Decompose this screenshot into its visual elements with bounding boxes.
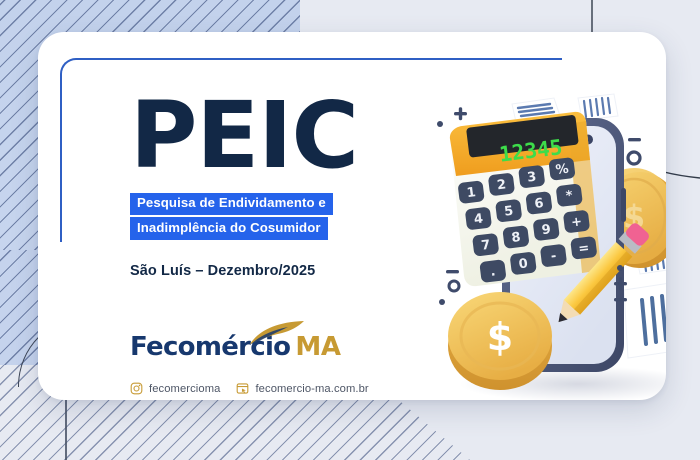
date-location-label: São Luís – Dezembro/2025 <box>130 263 430 279</box>
svg-text:%: % <box>555 162 570 178</box>
svg-text:8: 8 <box>511 230 522 246</box>
svg-text:4: 4 <box>473 211 484 227</box>
svg-text:0: 0 <box>518 256 529 272</box>
social-link-instagram[interactable]: fecomercioma <box>130 382 220 395</box>
svg-text:9: 9 <box>541 222 552 238</box>
feather-icon <box>248 320 314 346</box>
coin-dollar-symbol: $ <box>487 315 513 359</box>
social-label-instagram: fecomercioma <box>149 383 220 395</box>
svg-text:6: 6 <box>534 196 545 212</box>
svg-text:2: 2 <box>496 177 507 193</box>
logo-wordmark: FecomércioMA <box>130 332 460 370</box>
instagram-icon <box>130 382 143 395</box>
social-label-website: fecomercio-ma.com.br <box>255 383 368 395</box>
headline-block: PEIC Pesquisa de Endividamento e Inadimp… <box>130 94 430 279</box>
subtitle-line-2: Inadimplência do Cosumidor <box>130 217 328 239</box>
svg-text:3: 3 <box>526 170 537 186</box>
svg-text:1: 1 <box>466 185 477 201</box>
main-card: PEIC Pesquisa de Endividamento e Inadimp… <box>38 32 666 400</box>
svg-text:+: + <box>570 214 583 230</box>
phone-side-button <box>621 188 626 222</box>
website-icon <box>236 382 249 395</box>
calculator: 12345 <box>450 112 600 286</box>
social-link-website[interactable]: fecomercio-ma.com.br <box>236 382 368 395</box>
coin-front: $ <box>448 292 552 390</box>
page-title: PEIC <box>130 94 430 179</box>
paper-bottom-right <box>624 280 666 358</box>
brand-logo-block: FecomércioMA fecomercioma <box>130 332 460 395</box>
finance-illustration: $ 12345 <box>428 72 666 400</box>
subtitle-line-1: Pesquisa de Endividamento e <box>130 193 333 215</box>
subtitle-block: Pesquisa de Endividamento e Inadimplênci… <box>130 193 430 240</box>
svg-text:7: 7 <box>480 238 491 254</box>
svg-text:5: 5 <box>503 204 514 220</box>
svg-text:=: = <box>578 241 591 257</box>
social-links-row: fecomercioma fecomercio-ma.com.br <box>130 382 460 395</box>
